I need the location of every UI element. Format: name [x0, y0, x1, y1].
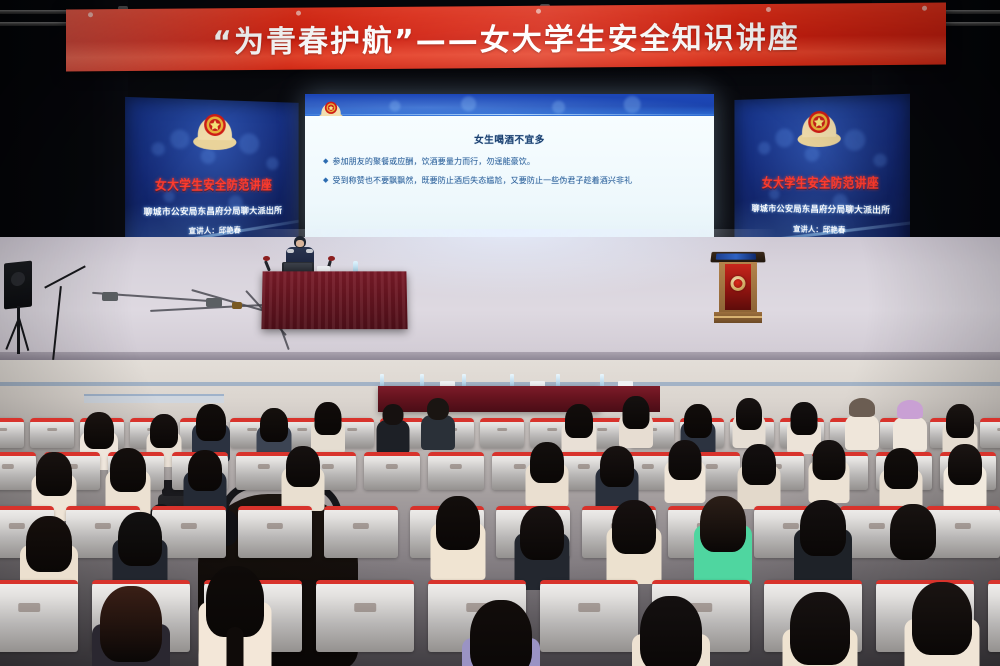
seat-latch: [869, 523, 885, 530]
seat-latch: [578, 464, 590, 469]
audience-hair-long: [565, 404, 593, 438]
seat-top-trim: [0, 506, 54, 510]
seat-latch: [258, 464, 270, 469]
audience-hair-long: [736, 398, 762, 430]
auditorium-seat: [238, 506, 312, 558]
auditorium-seat: [480, 418, 524, 448]
audience-hair-long: [600, 446, 634, 487]
audience-member: [100, 586, 162, 666]
seat-top-trim: [480, 418, 524, 422]
audience-hair-long: [36, 452, 72, 496]
seat-top-trim: [980, 418, 1000, 422]
audience-member: [668, 440, 701, 514]
auditorium-seat: [0, 418, 24, 448]
seat-latch: [2, 464, 14, 469]
audience-hair-long: [622, 396, 649, 429]
audience-hair-long: [530, 442, 564, 483]
audience-member: [206, 566, 264, 666]
auditorium-seat: [540, 580, 638, 652]
seat-latch: [297, 428, 307, 432]
audience-coat: [421, 415, 455, 450]
auditorium-seat: [980, 418, 1000, 448]
crowd-layer: [0, 0, 1000, 666]
auditorium-seat: [988, 580, 1000, 652]
seat-top-trim: [30, 418, 74, 422]
seat-latch: [267, 523, 283, 530]
seat-top-trim: [428, 452, 484, 456]
lecture-hall-photo: “为青春护航”——女大学生安全知识讲座 女大学生安全防范讲座 聊城市公安局东昌府…: [0, 0, 1000, 666]
audience-hair-long: [912, 582, 972, 655]
seat-top-trim: [652, 580, 750, 584]
seat-latch: [353, 523, 369, 530]
seat-latch: [597, 428, 607, 432]
audience-hair-long: [948, 444, 982, 485]
seat-top-trim: [316, 580, 414, 584]
audience-hair-long: [436, 496, 480, 550]
seat-top-trim: [0, 418, 24, 422]
seat-top-trim: [364, 452, 420, 456]
seat-top-trim: [540, 580, 638, 584]
seat-latch: [578, 603, 600, 612]
seat-latch: [450, 464, 462, 469]
audience-hair-long: [884, 448, 918, 489]
seat-top-trim: [324, 506, 398, 510]
audience-hair-long: [118, 512, 162, 566]
seat-latch: [514, 464, 526, 469]
audience-hair-long: [110, 448, 146, 492]
seat-latch: [642, 464, 654, 469]
auditorium-seat: [428, 452, 484, 490]
seat-latch: [247, 428, 257, 432]
auditorium-seat: [30, 418, 74, 448]
seat-top-trim: [0, 452, 36, 456]
seat-top-trim: [152, 506, 226, 510]
audience-hair-long: [890, 504, 936, 560]
audience-hair-long: [790, 592, 850, 665]
seat-latch: [322, 464, 334, 469]
seat-latch: [47, 428, 57, 432]
seat-top-trim: [988, 580, 1000, 584]
grey-bucket-hat: [849, 398, 875, 417]
audience-hair-long: [668, 440, 701, 480]
audience-hair-long: [188, 450, 222, 491]
audience-hair-long: [150, 414, 178, 448]
audience-hair-long: [286, 446, 320, 487]
auditorium-seat: [324, 506, 398, 558]
audience-hair-long: [612, 500, 656, 554]
seat-top-trim: [238, 506, 312, 510]
seat-top-trim: [92, 580, 190, 584]
audience-hair-long: [26, 516, 72, 572]
seat-latch: [955, 523, 971, 530]
auditorium-seat: [364, 452, 420, 490]
seat-latch: [354, 603, 376, 612]
seat-latch: [95, 523, 111, 530]
audience-hair-long: [314, 402, 341, 435]
seat-top-trim: [764, 580, 862, 584]
audience-coat: [845, 415, 879, 450]
audience-hair-long: [100, 586, 162, 662]
seat-latch: [9, 523, 25, 530]
audience-hair-long: [742, 444, 776, 485]
seat-latch: [547, 428, 557, 432]
audience-hair-long: [260, 408, 288, 442]
audience-coat: [377, 420, 410, 454]
audience-hair-short: [427, 398, 449, 420]
audience-hair-long: [684, 404, 712, 438]
audience-hair-long: [196, 404, 226, 441]
audience-hair-short: [383, 404, 404, 425]
seat-latch: [497, 428, 507, 432]
seat-latch: [386, 464, 398, 469]
audience-hair-long: [470, 600, 532, 666]
seat-latch: [181, 523, 197, 530]
seat-top-trim: [236, 452, 292, 456]
audience-hair-long: [84, 412, 114, 449]
seat-latch: [347, 428, 357, 432]
seat-top-trim: [66, 506, 140, 510]
audience-member: [424, 398, 451, 459]
audience-hair-long: [790, 402, 817, 435]
seat-latch: [706, 464, 718, 469]
seat-latch: [783, 523, 799, 530]
audience-hair-long: [800, 500, 846, 556]
seat-top-trim: [0, 580, 78, 584]
auditorium-seat: [0, 580, 78, 652]
seat-top-trim: [926, 506, 1000, 510]
audience-hair-long: [946, 404, 974, 438]
auditorium-seat: [316, 580, 414, 652]
pink-bucket-hat: [897, 400, 923, 419]
audience-member: [640, 596, 702, 666]
audience-ponytail: [227, 627, 244, 666]
audience-hair-long: [812, 440, 845, 480]
audience-hair-long: [520, 506, 564, 560]
audience-member: [848, 398, 875, 459]
seat-latch: [0, 428, 7, 432]
seat-latch: [18, 603, 40, 612]
audience-coat: [893, 417, 927, 452]
audience-hair-long: [640, 596, 702, 666]
audience-member: [470, 600, 532, 666]
audience-member: [790, 592, 850, 666]
audience-hair-long: [700, 496, 746, 552]
seat-top-trim: [428, 580, 526, 584]
audience-member: [912, 582, 972, 666]
